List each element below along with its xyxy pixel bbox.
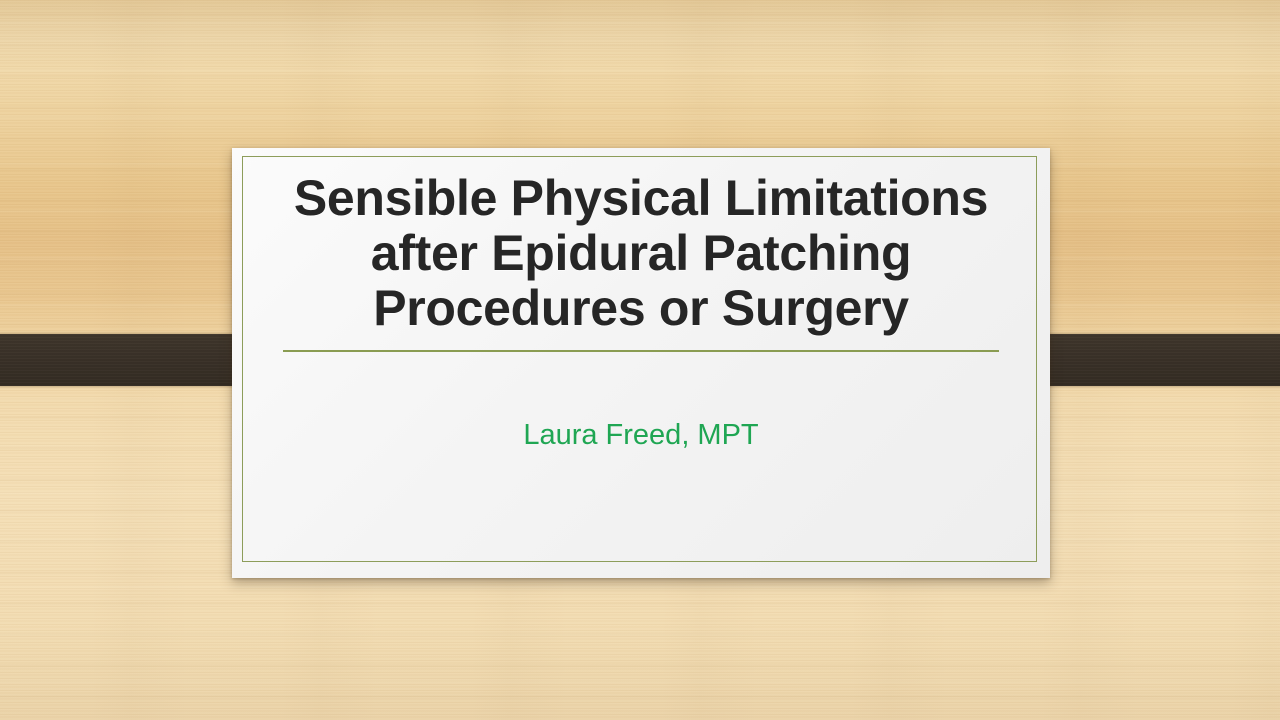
slide-title-line-3: Procedures or Surgery [373, 280, 909, 336]
ribbon-band-right [1016, 334, 1280, 386]
slide-title-line-1: Sensible Physical Limitations [294, 170, 988, 226]
title-slide-card: Sensible Physical Limitations after Epid… [232, 148, 1050, 578]
presentation-slide-view: Sensible Physical Limitations after Epid… [0, 0, 1280, 720]
slide-subtitle: Laura Freed, MPT [281, 418, 1001, 452]
slide-title: Sensible Physical Limitations after Epid… [281, 171, 1001, 336]
slide-title-line-2: after Epidural Patching [371, 225, 911, 281]
slide-content: Sensible Physical Limitations after Epid… [232, 148, 1050, 578]
ribbon-band-left [0, 334, 264, 386]
title-divider-rule [283, 350, 999, 352]
